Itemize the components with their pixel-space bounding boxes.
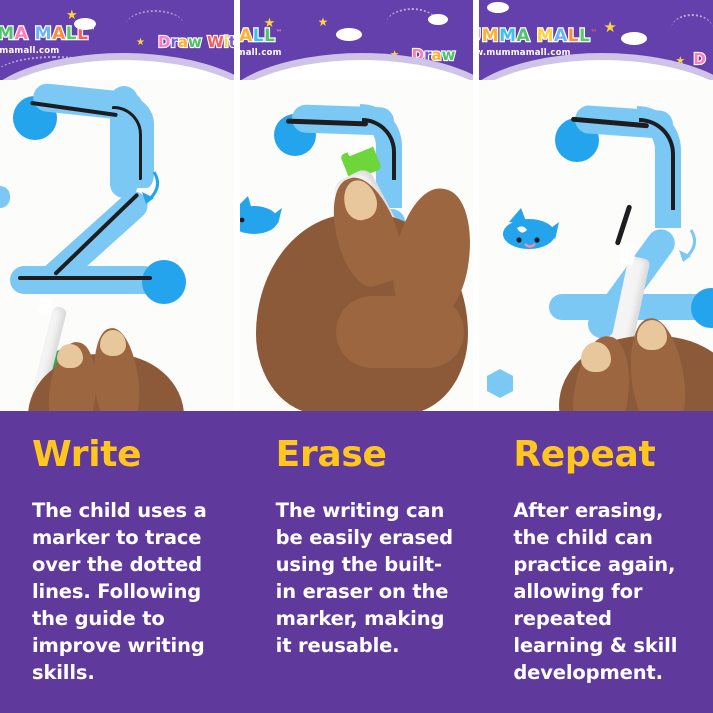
- hexagon-sticker: [487, 376, 513, 391]
- photo-panel-repeat: UMMA MALL™ ww.mummamall.com ★ ★ D: [479, 0, 713, 411]
- fingernail: [57, 344, 83, 368]
- star-icon: ★: [136, 38, 145, 48]
- direction-arrow-icon: [671, 228, 701, 275]
- star-icon: ★: [264, 16, 276, 29]
- brand-website: ww.mummamall.com: [479, 48, 598, 58]
- brand-website: www.mummamall.com: [0, 46, 96, 56]
- trace-stroke-edge: [0, 186, 10, 208]
- star-icon: ★: [390, 50, 400, 61]
- caption-body-repeat: After erasing, the child can practice ag…: [513, 497, 699, 686]
- shark-sticker-icon: [240, 194, 282, 243]
- caption-heading-repeat: Repeat: [513, 437, 699, 473]
- direction-arrow-icon: [134, 170, 164, 217]
- infographic-root: MUMMA MALL™ www.mummamall.com ★ ★ Draw W…: [0, 0, 713, 713]
- product-banner: UMMA MALL™ ww.mummamall.com ★ ★ D: [479, 0, 713, 88]
- caption-column-erase: Erase The writing can be easily erased u…: [232, 411, 476, 713]
- caption-heading-write: Write: [32, 437, 218, 473]
- caption-band: Write The child uses a marker to trace o…: [0, 411, 713, 713]
- brand-logo: MALL™ mamall.com: [240, 26, 283, 58]
- worksheet-sheet-erase: [240, 80, 474, 411]
- draw-with-tagline: D: [693, 50, 705, 68]
- cloud-icon: [621, 32, 647, 45]
- photo-panel-erase: MALL™ mamall.com ★ ★ ★ Draw: [240, 0, 474, 411]
- dotted-swirl: [671, 14, 713, 44]
- cloud-icon: [74, 18, 96, 30]
- fingernail: [637, 320, 667, 350]
- finger: [336, 296, 464, 368]
- worksheet-sheet-write: [0, 80, 234, 411]
- caption-column-repeat: Repeat After erasing, the child can prac…: [475, 411, 713, 713]
- trace-stroke: [10, 266, 158, 294]
- shark-sticker-icon: [497, 206, 559, 259]
- fingernail: [100, 330, 126, 356]
- caption-column-write: Write The child uses a marker to trace o…: [0, 411, 232, 713]
- marker-tip: [38, 297, 53, 315]
- brand-logo-text: MALL™: [240, 26, 283, 46]
- star-icon: ★: [318, 16, 329, 28]
- cloud-icon: [487, 2, 509, 13]
- brand-logo-text: UMMA MALL™: [479, 26, 598, 46]
- worksheet-sheet-repeat: [479, 80, 713, 411]
- star-icon: ★: [603, 20, 616, 35]
- fingernail: [581, 342, 611, 372]
- brand-logo: UMMA MALL™ ww.mummamall.com: [479, 26, 598, 58]
- cloud-icon: [336, 28, 362, 41]
- caption-body-write: The child uses a marker to trace over th…: [32, 497, 218, 686]
- brand-website: mamall.com: [240, 48, 283, 58]
- photo-strip: MUMMA MALL™ www.mummamall.com ★ ★ Draw W…: [0, 0, 713, 411]
- product-banner: MUMMA MALL™ www.mummamall.com ★ ★ Draw W…: [0, 0, 234, 88]
- draw-with-tagline: Draw: [412, 46, 456, 64]
- product-banner: MALL™ mamall.com ★ ★ ★ Draw: [240, 0, 474, 88]
- caption-body-erase: The writing can be easily erased using t…: [276, 497, 462, 659]
- ink-line: [615, 204, 633, 245]
- star-icon: ★: [675, 56, 685, 67]
- ink-line: [53, 193, 139, 276]
- ink-line: [18, 276, 152, 280]
- dotted-swirl: [386, 8, 438, 40]
- caption-heading-erase: Erase: [276, 437, 462, 473]
- end-node: [142, 260, 186, 304]
- draw-with-tagline: Draw Wit: [158, 33, 234, 51]
- photo-panel-write: MUMMA MALL™ www.mummamall.com ★ ★ Draw W…: [0, 0, 234, 411]
